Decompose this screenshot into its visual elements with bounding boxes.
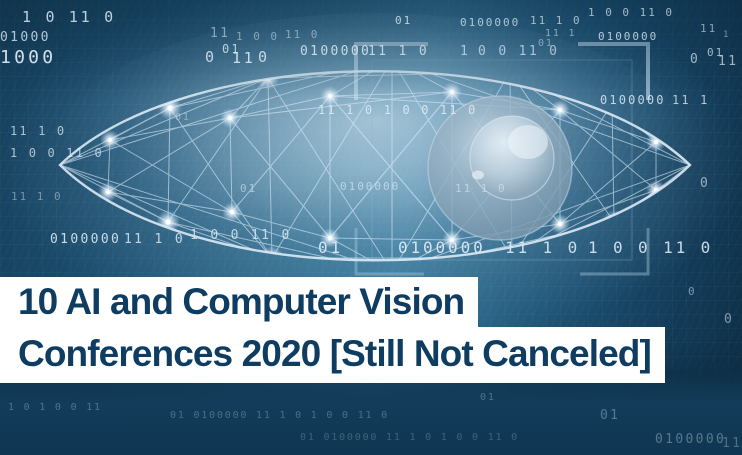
binary-code-text: 0 bbox=[205, 48, 217, 66]
binary-code-text: 0100000 bbox=[460, 16, 520, 29]
binary-code-text: 11 bbox=[718, 54, 738, 69]
binary-code-text: 0 bbox=[724, 312, 734, 327]
binary-code-text: 11 1 0 bbox=[368, 44, 429, 59]
binary-code-text: 11 1 0 bbox=[10, 124, 66, 138]
binary-code-text: 11 bbox=[700, 22, 717, 35]
binary-code-text: 01 bbox=[318, 238, 343, 257]
binary-code-text: 1 0 0 bbox=[236, 30, 279, 43]
binary-code-text: 1 bbox=[460, 44, 470, 59]
binary-code-text: 1 0 1 0 0 11 bbox=[8, 402, 102, 413]
binary-code-text: 11 1 0 bbox=[530, 14, 582, 27]
binary-code-text: 0 bbox=[690, 52, 700, 67]
binary-code-text: 11 1 0 bbox=[11, 190, 63, 203]
binary-code-text: 1 0 0 11 0 bbox=[588, 6, 674, 19]
binary-code-text: 0 bbox=[688, 285, 697, 298]
binary-code-text: 11 1 0 bbox=[455, 182, 507, 195]
binary-code-text: 11 1 bbox=[672, 93, 710, 107]
binary-code-text: 0100000 bbox=[600, 93, 666, 107]
binary-code-text: 01 bbox=[175, 112, 191, 123]
binary-code-text: 01 0100000 11 1 0 1 0 0 11 0 bbox=[170, 410, 389, 421]
article-banner: 1 0 11 001010000011 1 01 0 0 11 00100011… bbox=[0, 0, 742, 455]
binary-code-text: 0100000 bbox=[300, 44, 371, 59]
binary-code-text: 0100000 bbox=[340, 180, 400, 193]
binary-code-text: 0100000 bbox=[50, 232, 121, 247]
binary-code-text: 11 1 0 bbox=[505, 238, 580, 257]
binary-code-overlay: 1 0 11 001010000011 1 01 0 0 11 00100011… bbox=[0, 0, 742, 455]
binary-code-text: 01 bbox=[480, 392, 496, 403]
binary-code-text: 01 bbox=[240, 182, 257, 195]
banner-title: 10 AI and Computer Vision Conferences 20… bbox=[0, 277, 665, 383]
binary-code-text: 1 0 0 11 0 bbox=[190, 228, 292, 243]
binary-code-text: 01 0100000 11 1 0 1 0 0 11 0 bbox=[300, 432, 519, 443]
binary-code-text: 1 0 0 11 0 bbox=[588, 238, 713, 257]
binary-code-text: 0100000 bbox=[398, 238, 486, 257]
binary-code-text: 1 0 11 0 bbox=[22, 8, 116, 26]
binary-code-text: 1 bbox=[723, 30, 730, 40]
binary-code-text: 0100000 bbox=[598, 30, 658, 43]
binary-code-text: 11 bbox=[232, 49, 255, 67]
binary-code-text: 1000 bbox=[0, 47, 56, 68]
binary-code-text: 0 bbox=[258, 48, 270, 66]
binary-code-text: 01000 bbox=[0, 30, 51, 45]
binary-code-text: 0100000 bbox=[655, 432, 726, 447]
binary-code-text: 11 0 bbox=[285, 28, 319, 41]
binary-code-text: 01 bbox=[600, 408, 620, 423]
binary-code-text: 11 1 0 bbox=[124, 232, 185, 247]
banner-title-line-1: 10 AI and Computer Vision bbox=[0, 277, 478, 327]
banner-title-line-2: Conferences 2020 [Still Not Canceled] bbox=[0, 327, 665, 383]
binary-code-text: 01 bbox=[395, 14, 412, 27]
binary-code-text: 01 bbox=[538, 38, 554, 49]
binary-code-text: 11 1 0 1 0 0 11 0 bbox=[318, 103, 478, 117]
binary-code-text: 11 bbox=[210, 26, 230, 41]
binary-code-text: 11 bbox=[722, 436, 742, 451]
binary-code-text: 0 bbox=[700, 176, 710, 191]
binary-code-text: 1 0 0 11 0 bbox=[10, 146, 104, 160]
